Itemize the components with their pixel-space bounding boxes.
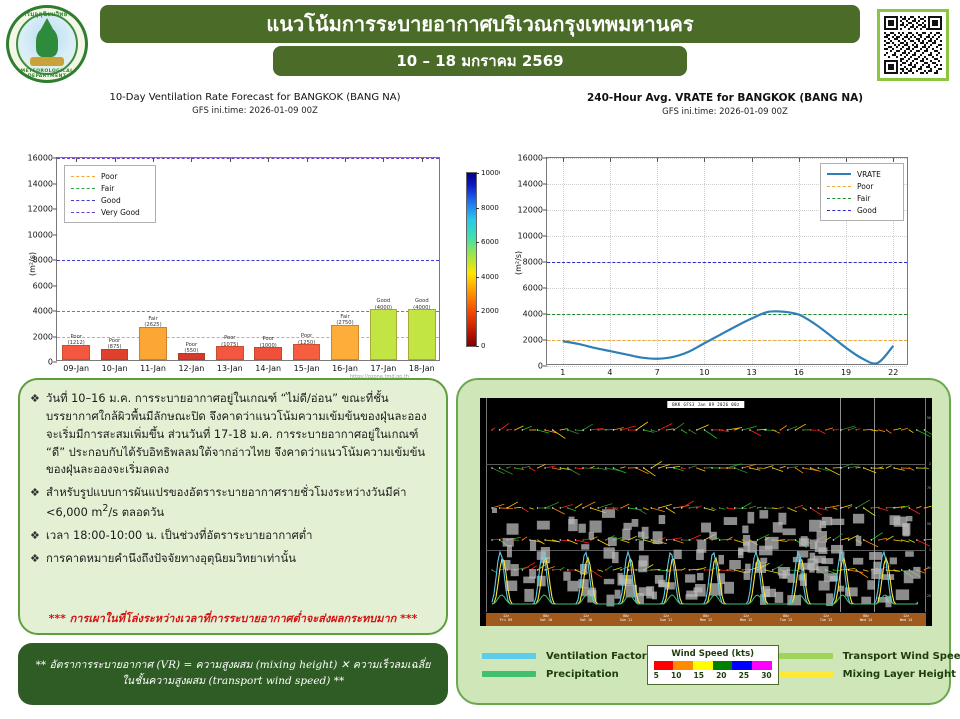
legend-item-good: Good (827, 204, 897, 216)
bullet-text: วันที่ 10–16 ม.ค. การระบายอากาศอยู่ในเกณ… (46, 390, 432, 479)
wind-speed-tick: 15 (694, 671, 704, 680)
bar-value-label: Poor(1212) (68, 334, 85, 347)
legend-swatch-precipitation (482, 671, 536, 677)
wind-speed-color-segment (654, 661, 674, 670)
wind-speed-color-scale (654, 661, 772, 670)
line-chart-legend: VRATE Poor Fair Good (820, 163, 904, 221)
page-title: แนวโน้มการระบายอากาศบริเวณกรุงเทพมหานคร (100, 5, 860, 43)
bar-y-tick-mark (53, 234, 57, 235)
bar-value-label: Poor(1075) (221, 335, 238, 348)
meteogram-legend: Ventilation Factor Precipitation Wind Sp… (468, 639, 939, 691)
bar-x-tick: 15-Jan (294, 360, 320, 373)
qr-code-container[interactable] (877, 9, 949, 81)
ventilation-rate-bar-chart: 10-Day Ventilation Rate Forecast for BAN… (20, 92, 490, 372)
legend-label-fair: Fair (101, 184, 114, 193)
wind-speed-tick: 10 (671, 671, 681, 680)
qr-code-icon (884, 16, 942, 74)
bar-y-tick-mark (53, 285, 57, 286)
logo-pedestal (30, 57, 64, 66)
table-row[interactable] (216, 346, 244, 360)
legend-swatch-good (71, 200, 95, 201)
meteogram-legend-left: Ventilation Factor Precipitation (482, 651, 647, 680)
bar-chart-legend: Poor Fair Good Very Good (64, 165, 156, 223)
bar-x-tick: 10-Jan (102, 360, 128, 373)
header: กรมอุตุนิยมวิทยา METEOROLOGICAL DEPARTME… (0, 0, 960, 90)
bar-value-label: Good(4000) (413, 298, 430, 311)
meteogram-day-label: 12zSat 10 (566, 613, 606, 626)
meteogram-day-label: 00zMon 12 (686, 613, 726, 626)
wind-speed-color-segment (713, 661, 733, 670)
bar-x-tick-mark (345, 158, 346, 162)
legend-item-good: Good (71, 194, 149, 206)
legend-label-ventilation-factor: Ventilation Factor (546, 651, 647, 662)
bar-x-tick: 14-Jan (255, 360, 281, 373)
legend-item-transport-wind-speed: Transport Wind Speed (779, 651, 960, 662)
logo-top-text: กรมอุตุนิยมวิทยา (9, 9, 85, 19)
legend-label-poor: Poor (101, 172, 118, 181)
wind-speed-color-segment (673, 661, 693, 670)
logo-deity-figure (36, 27, 58, 57)
bar-x-tick: 18-Jan (409, 360, 435, 373)
bar-x-tick-mark (383, 158, 384, 162)
legend-item-fair: Fair (71, 182, 149, 194)
wind-speed-scale: Wind Speed (kts) 51015202530 (647, 645, 779, 685)
definition-note-panel: ** อัตราการระบายอากาศ (VR) = ความสูงผสม … (18, 643, 448, 705)
bar-x-tick-mark (268, 158, 269, 162)
list-item: ❖การคาดหมายคำนึงถึงปัจจัยทางอุตุนิยมวิทย… (30, 550, 432, 568)
meteogram-traces (480, 398, 932, 612)
bar-value-label: Good(4000) (375, 298, 392, 311)
legend-swatch-fair (827, 198, 851, 199)
bar-chart-title: 10-Day Ventilation Rate Forecast for BAN… (20, 92, 490, 103)
wind-speed-scale-title: Wind Speed (kts) (654, 649, 772, 659)
legend-swatch-good (827, 210, 851, 211)
page-subtitle-daterange: 10 – 18 มกราคม 2569 (273, 46, 687, 76)
list-item: ❖เวลา 18:00-10:00 น. เป็นช่วงที่อัตราระบ… (30, 527, 432, 545)
wind-speed-tick: 20 (716, 671, 726, 680)
meteogram-time-axis: 12zFri 0900zSat 1012zSat 1000zSun 1112zS… (486, 613, 926, 626)
bar-value-label: Poor(875) (108, 338, 122, 351)
legend-swatch-poor (71, 176, 95, 177)
bar-x-tick: 09-Jan (63, 360, 89, 373)
bar-value-label: Poor(1250) (298, 333, 315, 346)
warning-text: *** การเผาในที่โล่งระหว่างเวลาที่การระบา… (20, 609, 446, 627)
bar-x-tick: 11-Jan (140, 360, 166, 373)
meteogram-day-label: 00zWed 14 (846, 613, 886, 626)
line-chart-title: 240-Hour Avg. VRATE for BANGKOK (BANG NA… (500, 92, 950, 104)
legend-swatch-very-good (71, 212, 95, 213)
bar-y-tick-mark (53, 183, 57, 184)
bar-x-tick-mark (76, 158, 77, 162)
list-item: ❖วันที่ 10–16 ม.ค. การระบายอากาศอยู่ในเก… (30, 390, 432, 479)
bar-x-tick-mark (422, 158, 423, 162)
table-row[interactable] (370, 309, 398, 360)
bullet-marker-icon: ❖ (30, 527, 46, 545)
bullet-text: สำหรับรูปแบบการผันแปรของอัตราระบายอากาศร… (46, 484, 432, 521)
meteogram-legend-right: Transport Wind Speed Mixing Layer Height (779, 651, 960, 680)
bullet-list: ❖วันที่ 10–16 ม.ค. การระบายอากาศอยู่ในเก… (30, 390, 432, 567)
threshold-line-good (57, 260, 439, 261)
legend-label-good: Good (857, 206, 877, 215)
wind-speed-tick: 25 (739, 671, 749, 680)
legend-swatch-transport-wind-speed (779, 653, 833, 659)
legend-label-precipitation: Precipitation (546, 669, 619, 680)
table-row[interactable] (293, 344, 321, 360)
meteogram-day-label: 00zSun 11 (606, 613, 646, 626)
bar-x-tick-mark (307, 158, 308, 162)
wind-speed-color-segment (752, 661, 772, 670)
bar-value-label: Fair(2750) (336, 314, 353, 327)
legend-label-good: Good (101, 196, 121, 205)
meteogram-day-label: 12zTue 13 (806, 613, 846, 626)
legend-label-fair: Fair (857, 194, 870, 203)
meteogram-day-label: 12zMon 12 (726, 613, 766, 626)
bar-y-tick-mark (53, 209, 57, 210)
legend-item-mixing-layer-height: Mixing Layer Height (779, 669, 960, 680)
legend-label-poor: Poor (857, 182, 874, 191)
legend-label-transport-wind-speed: Transport Wind Speed (843, 651, 960, 662)
wind-speed-tick: 30 (761, 671, 771, 680)
bar-x-tick-mark (153, 158, 154, 162)
colorbar: 0 2000 4000 6000 8000 10000 (466, 172, 477, 347)
bar-value-label: Poor(550) (184, 342, 198, 355)
table-row[interactable] (331, 325, 359, 360)
legend-label-mixing-layer-height: Mixing Layer Height (843, 669, 956, 680)
wind-speed-scale-ticks: 51015202530 (654, 670, 772, 680)
legend-item-fair: Fair (827, 192, 897, 204)
table-row[interactable] (62, 345, 90, 360)
wind-speed-color-segment (693, 661, 713, 670)
bullet-text: เวลา 18:00-10:00 น. เป็นช่วงที่อัตราระบา… (46, 527, 312, 545)
line-y-axis-label: (m²/s) (514, 251, 523, 275)
tmd-logo: กรมอุตุนิยมวิทยา METEOROLOGICAL DEPARTME… (6, 5, 88, 83)
vrate-line-chart: 240-Hour Avg. VRATE for BANGKOK (BANG NA… (500, 92, 950, 377)
list-item: ❖สำหรับรูปแบบการผันแปรของอัตราระบายอากาศ… (30, 484, 432, 521)
bullet-text: การคาดหมายคำนึงถึงปัจจัยทางอุตุนิยมวิทยา… (46, 550, 296, 568)
meteogram-day-label: 12zFri 09 (486, 613, 526, 626)
forecast-summary-panel: ❖วันที่ 10–16 ม.ค. การระบายอากาศอยู่ในเก… (18, 378, 448, 635)
legend-label-vrate: VRATE (857, 170, 881, 179)
legend-swatch-mixing-layer-height (779, 671, 833, 677)
bar-y-axis-label: (m²/s) (28, 252, 37, 276)
table-row[interactable] (139, 327, 167, 360)
legend-swatch-poor (827, 186, 851, 187)
poster-root: กรมอุตุนิยมวิทยา METEOROLOGICAL DEPARTME… (0, 0, 960, 719)
bar-value-label: Poor(1000) (260, 336, 277, 349)
meteogram-day-label: 00zTue 13 (766, 613, 806, 626)
wind-speed-tick: 5 (654, 671, 659, 680)
bullet-marker-icon: ❖ (30, 390, 46, 479)
logo-emblem (16, 13, 78, 75)
logo-bottom-text: METEOROLOGICAL DEPARTMENT (9, 69, 85, 79)
legend-item-poor: Poor (827, 180, 897, 192)
definition-note-text: ** อัตราการระบายอากาศ (VR) = ความสูงผสม … (32, 658, 434, 690)
bar-value-label: Fair(2625) (144, 316, 161, 329)
legend-swatch-vrate (827, 173, 851, 175)
bar-x-tick-mark (230, 158, 231, 162)
legend-item-poor: Poor (71, 170, 149, 182)
meteogram-day-label: 12zSun 11 (646, 613, 686, 626)
legend-swatch-fair (71, 188, 95, 189)
meteogram-day-label: 12zWed 14 (886, 613, 926, 626)
bar-x-tick: 12-Jan (178, 360, 204, 373)
meteogram-image[interactable]: BKK GFS3 Jan 09 2026 00z 50 2 70 50 1 30… (480, 398, 932, 626)
legend-swatch-ventilation-factor (482, 653, 536, 659)
legend-item-vrate: VRATE (827, 168, 897, 180)
bar-x-tick: 17-Jan (370, 360, 396, 373)
legend-item-precipitation: Precipitation (482, 669, 647, 680)
bar-chart-subtitle: GFS ini.time: 2026-01-09 00Z (20, 106, 490, 116)
legend-item-ventilation-factor: Ventilation Factor (482, 651, 647, 662)
bar-x-tick-mark (115, 158, 116, 162)
wind-speed-color-segment (732, 661, 752, 670)
bar-x-tick: 13-Jan (217, 360, 243, 373)
bar-x-tick-mark (191, 158, 192, 162)
bullet-marker-icon: ❖ (30, 550, 46, 568)
grid-line-h (547, 366, 907, 367)
meteogram-day-label: 00zSat 10 (526, 613, 566, 626)
bullet-marker-icon: ❖ (30, 484, 46, 521)
line-chart-subtitle: GFS ini.time: 2026-01-09 00Z (500, 107, 950, 117)
bar-y-tick-mark (53, 362, 57, 363)
legend-label-very-good: Very Good (101, 208, 140, 217)
table-row[interactable] (408, 309, 436, 360)
legend-item-very-good: Very Good (71, 206, 149, 218)
bar-x-tick: 16-Jan (332, 360, 358, 373)
meteogram-panel: BKK GFS3 Jan 09 2026 00z 50 2 70 50 1 30… (456, 378, 951, 705)
